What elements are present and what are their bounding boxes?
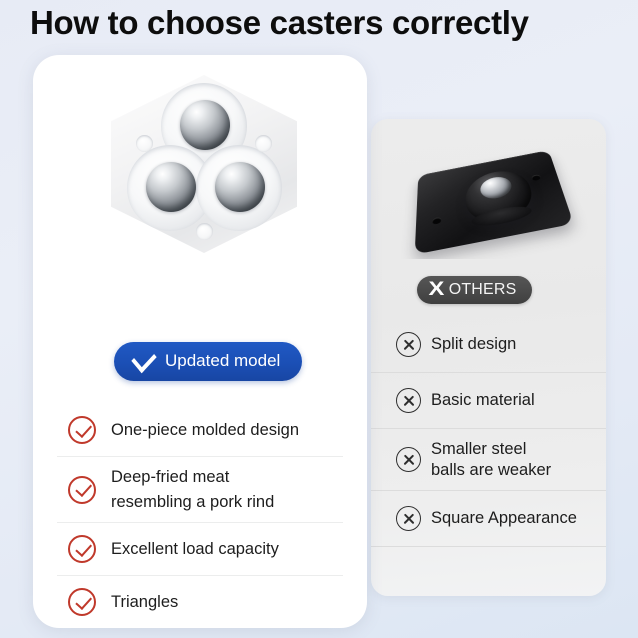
check-circle-icon — [68, 416, 96, 444]
caster-mounting-plate — [415, 150, 574, 255]
check-circle-icon — [68, 588, 96, 616]
list-item: Square Appearance — [371, 491, 606, 547]
x-icon: X — [429, 281, 444, 298]
list-item-label: Basic material — [431, 390, 535, 411]
others-comparison-card: X OTHERS Split design Basic material Sma… — [371, 119, 606, 596]
list-item-label: Split design — [431, 334, 516, 355]
mounting-hole-icon — [196, 223, 213, 240]
product-feature-card: Updated model One-piece molded design De… — [33, 55, 367, 628]
list-item-label: Smaller steel balls are weaker — [431, 439, 551, 481]
mounting-hole-icon — [531, 174, 541, 181]
caster-dome — [464, 166, 537, 226]
main-product-image — [33, 55, 367, 277]
mounting-hole-icon — [255, 135, 272, 152]
x-circle-icon — [396, 388, 421, 413]
mounting-hole-icon — [136, 135, 153, 152]
list-item-line: Deep-fried meat — [111, 465, 274, 490]
steel-ball — [215, 162, 265, 212]
others-badge-label: OTHERS — [449, 281, 517, 298]
others-drawback-list: Split design Basic material Smaller stee… — [371, 317, 606, 547]
steel-ball — [479, 175, 513, 201]
updated-model-badge: Updated model — [114, 342, 302, 381]
list-item-label: One-piece molded design — [111, 418, 299, 443]
check-icon — [131, 345, 156, 373]
x-circle-icon — [396, 447, 421, 472]
list-item-label: Excellent load capacity — [111, 537, 279, 562]
others-badge: X OTHERS — [417, 276, 532, 304]
check-circle-icon — [68, 476, 96, 504]
page-title: How to choose casters correctly — [30, 1, 620, 45]
list-item-label: Square Appearance — [431, 508, 577, 529]
list-item-line: balls are weaker — [431, 460, 551, 481]
mounting-hole-icon — [432, 217, 441, 225]
x-circle-icon — [396, 332, 421, 357]
list-item: Smaller steel balls are weaker — [371, 429, 606, 491]
list-item-label: Triangles — [111, 590, 178, 615]
list-item: Deep-fried meat resembling a pork rind — [57, 457, 343, 523]
list-item-label: Deep-fried meat resembling a pork rind — [111, 465, 274, 515]
updated-model-label: Updated model — [165, 351, 280, 371]
list-item: One-piece molded design — [57, 404, 343, 457]
steel-ball — [180, 100, 230, 150]
list-item: Split design — [371, 317, 606, 373]
list-item-line: resembling a pork rind — [111, 490, 274, 515]
list-item: Basic material — [371, 373, 606, 429]
x-circle-icon — [396, 506, 421, 531]
list-item-line: Smaller steel — [431, 439, 551, 460]
product-feature-list: One-piece molded design Deep-fried meat … — [33, 404, 367, 628]
steel-ball — [146, 162, 196, 212]
list-item: Excellent load capacity — [57, 523, 343, 576]
hexagonal-caster-illustration — [111, 75, 297, 253]
infographic-canvas: How to choose casters correctly X OTHERS — [0, 0, 638, 638]
black-caster-illustration — [401, 124, 578, 259]
others-product-image — [371, 119, 606, 259]
check-circle-icon — [68, 535, 96, 563]
list-item: Triangles — [57, 576, 343, 628]
